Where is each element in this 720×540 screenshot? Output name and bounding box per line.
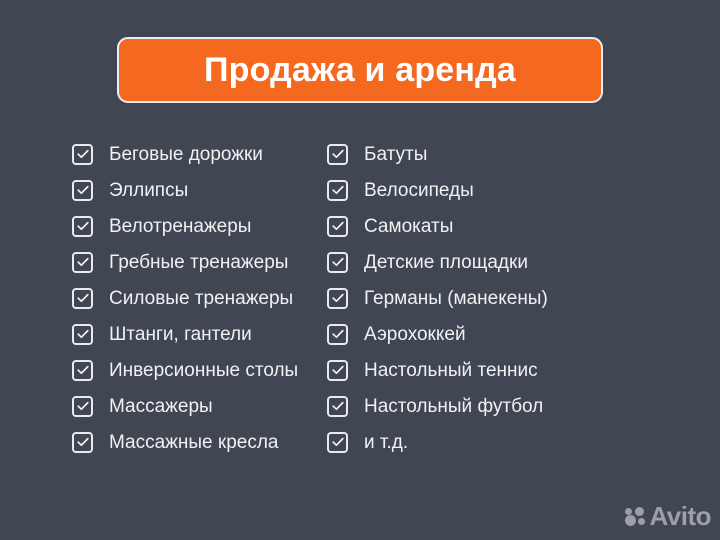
checklist-item[interactable]: Гребные тренажеры: [72, 244, 315, 280]
checkbox-checked-icon[interactable]: [72, 180, 93, 201]
checklist-column-left: Беговые дорожкиЭллипсыВелотренажерыГребн…: [0, 136, 315, 460]
checklist-item[interactable]: Аэрохоккей: [327, 316, 645, 352]
avito-wordmark: Avito: [649, 503, 711, 529]
checkbox-checked-icon[interactable]: [327, 432, 348, 453]
checkbox-checked-icon[interactable]: [327, 396, 348, 417]
checklist-item-label: Детские площадки: [364, 253, 528, 272]
checkbox-checked-icon[interactable]: [72, 432, 93, 453]
poster-canvas: Продажа и аренда Беговые дорожкиЭллипсыВ…: [0, 0, 720, 540]
checklist-item-label: Гребные тренажеры: [109, 253, 288, 272]
title-banner: Продажа и аренда: [117, 37, 603, 103]
checklist-columns: Беговые дорожкиЭллипсыВелотренажерыГребн…: [0, 136, 720, 460]
checkbox-checked-icon[interactable]: [72, 324, 93, 345]
page-title: Продажа и аренда: [204, 53, 516, 87]
checklist-item[interactable]: Велосипеды: [327, 172, 645, 208]
checklist-item[interactable]: Массажеры: [72, 388, 315, 424]
checklist-column-right: БатутыВелосипедыСамокатыДетские площадки…: [315, 136, 645, 460]
checklist-item-label: Батуты: [364, 145, 427, 164]
checkbox-checked-icon[interactable]: [72, 396, 93, 417]
checklist-item-label: Штанги, гантели: [109, 325, 252, 344]
checkbox-checked-icon[interactable]: [327, 144, 348, 165]
checklist-item[interactable]: Велотренажеры: [72, 208, 315, 244]
checklist-item[interactable]: Настольный футбол: [327, 388, 645, 424]
checkbox-checked-icon[interactable]: [72, 216, 93, 237]
checklist-item-label: Эллипсы: [109, 181, 188, 200]
checklist-item[interactable]: Инверсионные столы: [72, 352, 315, 388]
checkbox-checked-icon[interactable]: [72, 252, 93, 273]
checklist-item-label: Германы (манекены): [364, 289, 548, 308]
checklist-item-label: Массажеры: [109, 397, 213, 416]
checklist-item[interactable]: Массажные кресла: [72, 424, 315, 460]
avito-logo-icon: [625, 507, 646, 526]
checkbox-checked-icon[interactable]: [72, 144, 93, 165]
checkbox-checked-icon[interactable]: [327, 180, 348, 201]
checklist-item-label: Велосипеды: [364, 181, 474, 200]
checklist-item[interactable]: Силовые тренажеры: [72, 280, 315, 316]
checklist-item-label: Настольный теннис: [364, 361, 538, 380]
checklist-item-label: Инверсионные столы: [109, 361, 298, 380]
checkbox-checked-icon[interactable]: [72, 288, 93, 309]
checklist-item-label: Аэрохоккей: [364, 325, 466, 344]
checklist-item[interactable]: Штанги, гантели: [72, 316, 315, 352]
checkbox-checked-icon[interactable]: [327, 360, 348, 381]
checklist-item[interactable]: Самокаты: [327, 208, 645, 244]
checkbox-checked-icon[interactable]: [72, 360, 93, 381]
checklist-item[interactable]: Беговые дорожки: [72, 136, 315, 172]
checklist-item-label: Велотренажеры: [109, 217, 251, 236]
checklist-item[interactable]: и т.д.: [327, 424, 645, 460]
checklist-item[interactable]: Батуты: [327, 136, 645, 172]
checkbox-checked-icon[interactable]: [327, 288, 348, 309]
avito-watermark: Avito: [625, 503, 711, 529]
checklist-item-label: Настольный футбол: [364, 397, 543, 416]
checklist-item[interactable]: Настольный теннис: [327, 352, 645, 388]
checklist-item[interactable]: Эллипсы: [72, 172, 315, 208]
checklist-item[interactable]: Германы (манекены): [327, 280, 645, 316]
checkbox-checked-icon[interactable]: [327, 216, 348, 237]
checklist-item-label: Массажные кресла: [109, 433, 278, 452]
checkbox-checked-icon[interactable]: [327, 324, 348, 345]
checkbox-checked-icon[interactable]: [327, 252, 348, 273]
checklist-item-label: Беговые дорожки: [109, 145, 263, 164]
checklist-item-label: и т.д.: [364, 433, 408, 452]
checklist-item-label: Самокаты: [364, 217, 453, 236]
checklist-item[interactable]: Детские площадки: [327, 244, 645, 280]
checklist-item-label: Силовые тренажеры: [109, 289, 293, 308]
